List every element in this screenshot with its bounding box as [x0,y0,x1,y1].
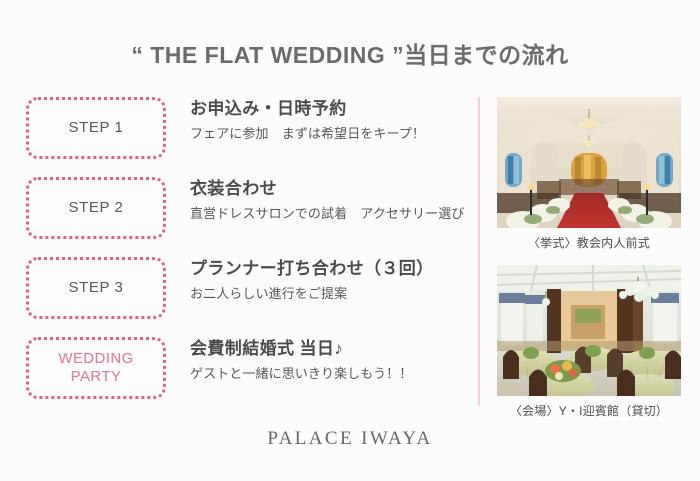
step-badge-2[interactable]: STEP 2 [26,177,166,239]
step-subtext: ゲストと一緒に思いきり楽しもう！！ [190,366,412,383]
step-body: お申込み・日時予約 フェアに参加 まずは希望日をキープ！ [190,97,425,143]
step-row: STEP 2 衣装合わせ 直営ドレスサロンでの試着 アクセサリー選び [26,177,471,257]
step-badge-label: WEDDINGPARTY [58,350,133,387]
step-row: STEP 3 プランナー打ち合わせ（３回） お二人らしい進行をご提案 [26,257,471,337]
step-row: WEDDINGPARTY 会費制結婚式 当日♪ ゲストと一緒に思いきり楽しもう！… [26,337,471,417]
step-heading: 会費制結婚式 当日♪ [190,338,412,361]
step-badge-3[interactable]: STEP 3 [26,257,166,319]
step-badge-label: STEP 1 [68,119,123,137]
step-subtext: 直営ドレスサロンでの試着 アクセサリー選び [190,206,464,223]
chapel-interior-photo [497,97,681,228]
page-title: “ THE FLAT WEDDING ”当日までの流れ [0,36,700,70]
step-heading: プランナー打ち合わせ（３回） [190,258,434,281]
step-subtext: お二人らしい進行をご提案 [190,286,434,303]
badge-line-2: PARTY [71,368,122,385]
footer-logo: PALACE IWAYA [0,428,700,450]
step-badge-label: STEP 3 [68,279,123,297]
step-subtext: フェアに参加 まずは希望日をキープ！ [190,126,425,143]
step-body: プランナー打ち合わせ（３回） お二人らしい進行をご提案 [190,257,434,303]
step-heading: 衣装合わせ [190,178,464,201]
step-row: STEP 1 お申込み・日時予約 フェアに参加 まずは希望日をキープ！ [26,97,471,177]
photo-caption-banquet: 〈会場〉Y・I迎賓館（貸切） [497,402,681,419]
step-badge-label: STEP 2 [68,199,123,217]
steps-list: STEP 1 お申込み・日時予約 フェアに参加 まずは希望日をキープ！ STEP… [26,97,471,417]
slide-canvas: “ THE FLAT WEDDING ”当日までの流れ STEP 1 お申込み・… [0,0,700,481]
brand-name: PALACE IWAYA [267,428,432,449]
badge-line-1: WEDDING [58,350,133,367]
banquet-hall-photo [497,265,681,396]
step-badge-wedding-party[interactable]: WEDDINGPARTY [26,337,166,399]
step-body: 衣装合わせ 直営ドレスサロンでの試着 アクセサリー選び [190,177,464,223]
step-body: 会費制結婚式 当日♪ ゲストと一緒に思いきり楽しもう！！ [190,337,412,383]
photo-caption-chapel: 〈挙式〉教会内人前式 [497,234,681,251]
page-title-text: “ THE FLAT WEDDING ”当日までの流れ [131,36,568,70]
photo-column: 〈挙式〉教会内人前式 [497,97,681,419]
step-heading: お申込み・日時予約 [190,98,425,121]
step-badge-1[interactable]: STEP 1 [26,97,166,159]
vertical-divider [478,97,480,405]
photo-block-banquet: 〈会場〉Y・I迎賓館（貸切） [497,265,681,419]
photo-block-chapel: 〈挙式〉教会内人前式 [497,97,681,251]
